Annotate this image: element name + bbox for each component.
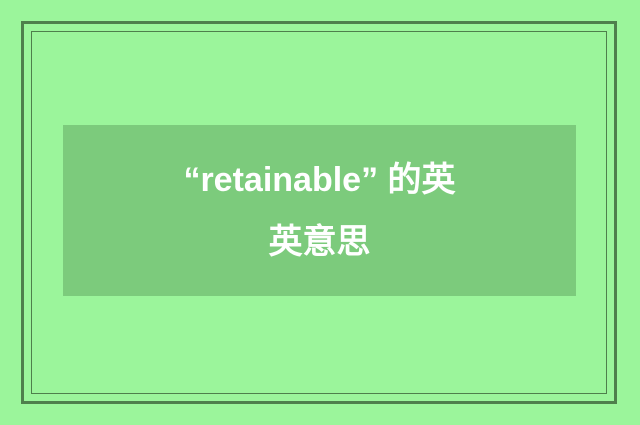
title-panel: “retainable” 的英英意思 <box>63 125 576 296</box>
poster-canvas: “retainable” 的英英意思 <box>0 0 640 425</box>
page-title: “retainable” 的英英意思 <box>170 149 470 273</box>
